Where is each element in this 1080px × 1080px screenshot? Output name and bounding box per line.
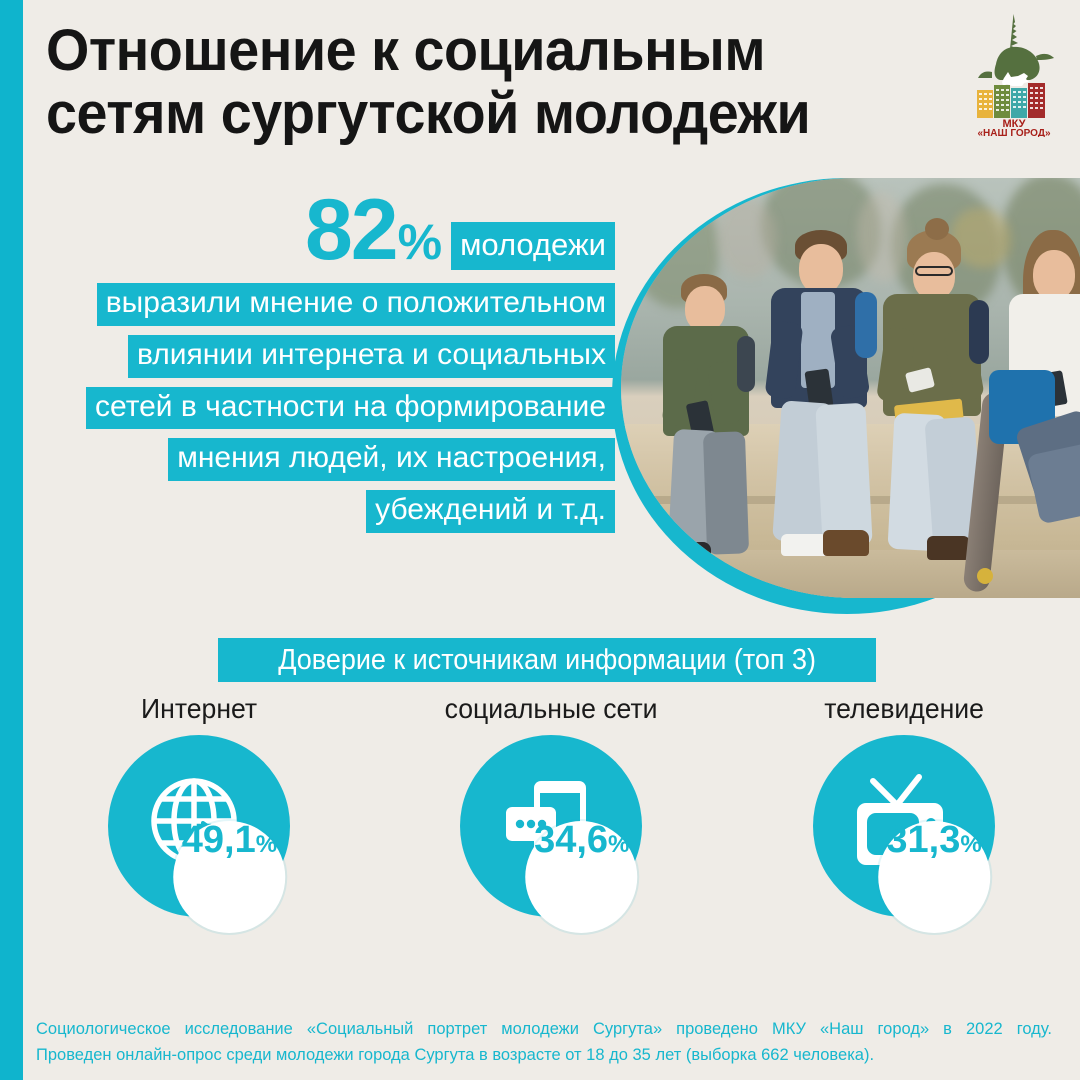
header: Отношение к социальным сетям сургутской … (46, 20, 926, 145)
statement-lines: выразили мнение о положительном влиянии … (40, 283, 615, 533)
organization-logo: МКУ «НАШ ГОРОД» (966, 12, 1062, 137)
page-title: Отношение к социальным сетям сургутской … (46, 20, 891, 145)
source-percent-unit: % (960, 833, 981, 857)
photo-clip (621, 178, 1080, 598)
left-accent-bar (0, 0, 23, 1080)
source-percent-value: 34,6 (534, 821, 608, 859)
statement-headline: 82 % молодежи (40, 190, 615, 274)
logo-name-text: «НАШ ГОРОД» (977, 128, 1050, 137)
source-percent-bubble: 34,6 % (526, 821, 638, 933)
source-label: Интернет (141, 693, 257, 725)
source-percent-value: 31,3 (886, 821, 960, 859)
buildings-icon (977, 83, 1045, 118)
statement-subject: молодежи (451, 222, 615, 270)
trust-banner: Доверие к источникам информации (топ 3) (218, 638, 876, 682)
statement-value: 82 (305, 190, 397, 272)
statement-line-3: сетей в частности на формирование (86, 387, 615, 430)
source-percent-unit: % (608, 833, 629, 857)
statement-line-2: влиянии интернета и социальных (128, 335, 615, 378)
trust-banner-title: Доверие к источникам информации (топ 3) (278, 644, 816, 677)
tree-icon (978, 14, 1054, 80)
source-percent-value: 49,1 (182, 821, 256, 859)
source-social-networks: социальные сети 34,6 % (391, 693, 711, 917)
sources-row: Интернет 49,1 % (23, 693, 1080, 1013)
statement-line-5: убеждений и т.д. (366, 490, 615, 533)
source-television: телевидение 31,3 % (744, 693, 1064, 917)
statement-block: 82 % молодежи выразили мнение о положите… (40, 190, 615, 533)
source-percent-unit: % (256, 833, 277, 857)
youth-photo (612, 178, 1080, 614)
footer-line-2: Проведен онлайн-опрос среди молодежи гор… (36, 1043, 1052, 1069)
infographic-page: Отношение к социальным сетям сургутской … (0, 0, 1080, 1080)
source-percent-bubble: 49,1 % (173, 821, 285, 933)
statement-percent-symbol: % (398, 217, 442, 267)
statement-line-4: мнения людей, их настроения, (168, 438, 615, 481)
source-internet: Интернет 49,1 % (39, 693, 359, 917)
footer-note: Социологическое исследование «Социальный… (36, 1017, 1052, 1068)
photo-content (621, 178, 1080, 598)
footer-line-1: Социологическое исследование «Социальный… (36, 1017, 1052, 1043)
source-label: телевидение (824, 693, 984, 725)
source-label: социальные сети (445, 693, 658, 725)
source-percent-bubble: 31,3 % (878, 821, 990, 933)
statement-line-1: выразили мнение о положительном (97, 283, 615, 326)
